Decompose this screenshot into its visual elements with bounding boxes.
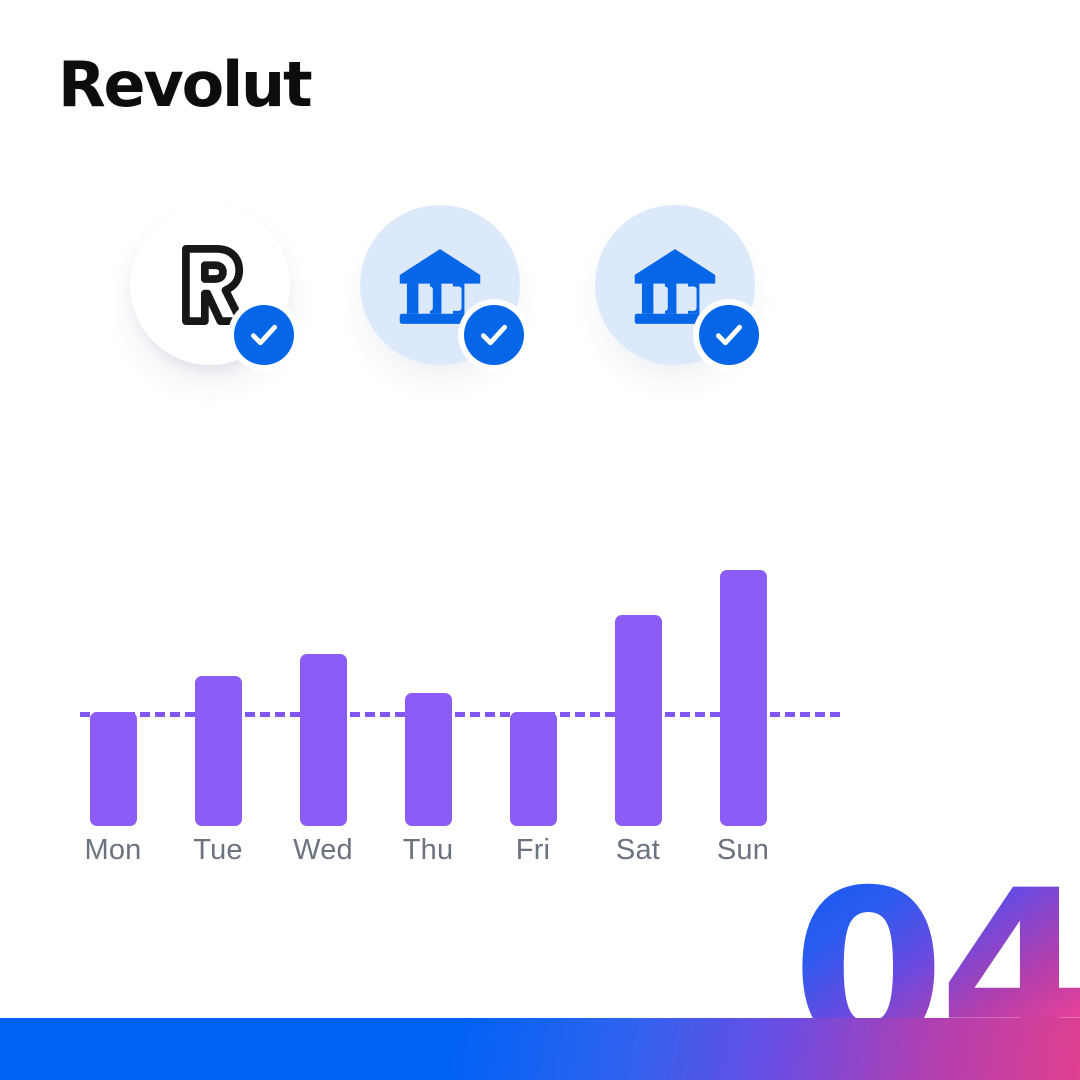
chart-plot-area bbox=[80, 548, 840, 826]
chart-bar[interactable] bbox=[405, 693, 452, 826]
brand-wordmark: Revolut bbox=[58, 54, 310, 116]
chart-bar[interactable] bbox=[720, 570, 767, 826]
check-icon bbox=[712, 318, 746, 352]
chart-x-label: Sat bbox=[598, 830, 678, 870]
verified-accounts-row bbox=[130, 205, 810, 385]
chart-x-axis-labels: MonTueWedThuFriSatSun bbox=[80, 830, 840, 876]
weekly-spending-chart: MonTueWedThuFriSatSun bbox=[80, 548, 840, 888]
verified-badge-disc bbox=[464, 305, 524, 365]
account-badge-bank-1[interactable] bbox=[360, 205, 520, 365]
verified-badge bbox=[458, 299, 530, 371]
verified-badge-disc bbox=[699, 305, 759, 365]
account-badge-revolut[interactable] bbox=[130, 205, 290, 365]
chart-x-label: Mon bbox=[73, 830, 153, 870]
account-badge-bank-2[interactable] bbox=[595, 205, 755, 365]
verified-badge-disc bbox=[234, 305, 294, 365]
chart-x-label: Fri bbox=[493, 830, 573, 870]
chart-bar[interactable] bbox=[615, 615, 662, 826]
check-icon bbox=[477, 318, 511, 352]
poster-canvas: Revolut bbox=[0, 0, 1080, 1080]
verified-badge bbox=[693, 299, 765, 371]
verified-badge bbox=[228, 299, 300, 371]
chart-bar[interactable] bbox=[90, 712, 137, 826]
chart-bar[interactable] bbox=[300, 654, 347, 826]
check-icon bbox=[247, 318, 281, 352]
chart-x-label: Wed bbox=[283, 830, 363, 870]
chart-x-label: Thu bbox=[388, 830, 468, 870]
chart-bar[interactable] bbox=[510, 712, 557, 826]
chart-x-label: Tue bbox=[178, 830, 258, 870]
chart-bar[interactable] bbox=[195, 676, 242, 826]
chart-x-label: Sun bbox=[703, 830, 783, 870]
bottom-gradient-bar bbox=[0, 1018, 1080, 1080]
